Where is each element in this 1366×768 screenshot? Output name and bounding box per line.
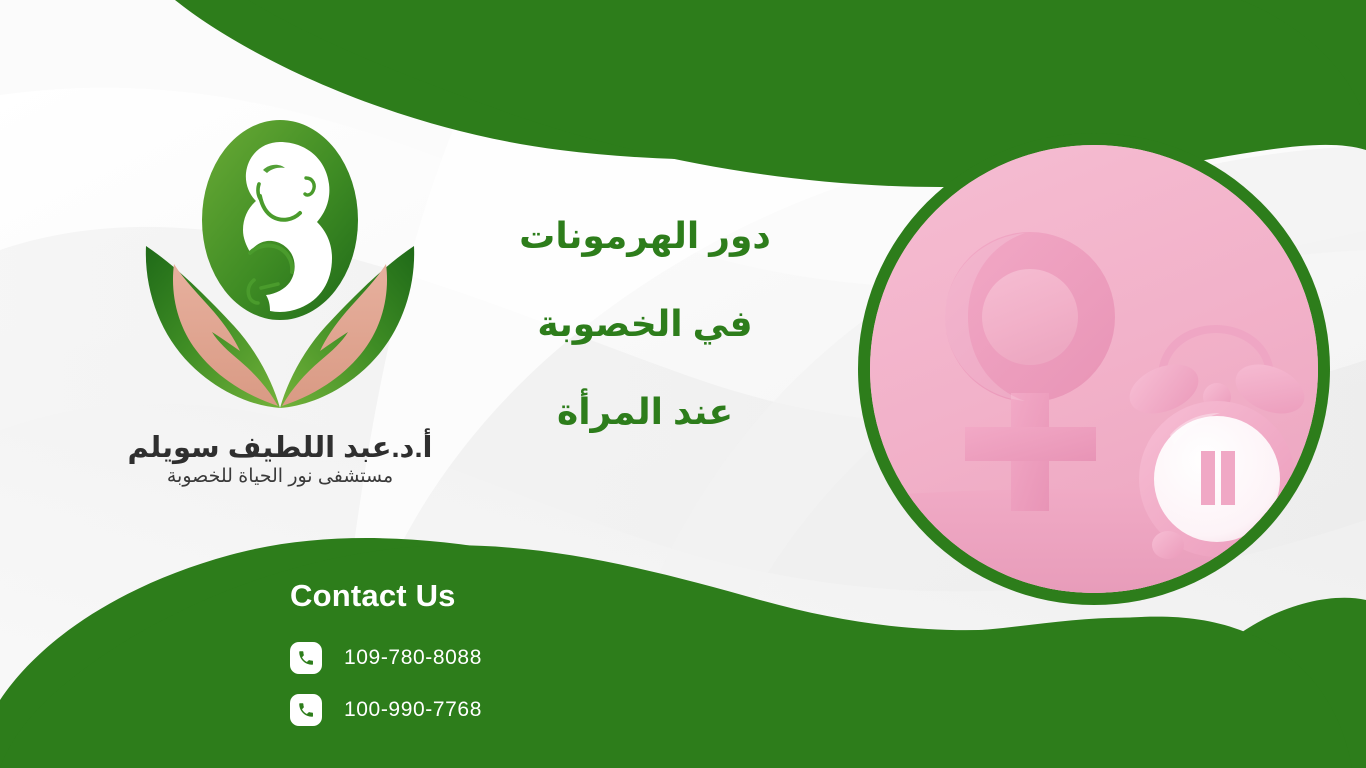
phone-icon: [290, 694, 322, 726]
contact-row[interactable]: 109-780-8088: [290, 642, 720, 674]
fetus-in-hands-leaf-logo-icon: [130, 112, 430, 430]
headline-line-2: في الخصوبة: [470, 306, 820, 342]
contact-row[interactable]: 100-990-7768: [290, 694, 720, 726]
contact-title: Contact Us: [290, 578, 720, 614]
photo-circle-ring: [858, 133, 1330, 605]
logo-doctor-name: أ.د.عبد اللطيف سويلم: [95, 432, 465, 464]
banner-canvas: أ.د.عبد اللطيف سويلم مستشفى نور الحياة ل…: [0, 0, 1366, 768]
phone-number[interactable]: 109-780-8088: [344, 646, 482, 670]
logo-clinic-name: مستشفى نور الحياة للخصوبة: [95, 466, 465, 488]
female-symbol-and-alarm-clock-photo: [870, 145, 1318, 593]
contact-block: Contact Us 109-780-8088 100-990-7768: [290, 578, 720, 746]
photo-circle-image: [870, 145, 1318, 593]
headline-line-1: دور الهرمونات: [470, 218, 820, 254]
headline-line-3: عند المرأة: [470, 394, 820, 430]
phone-number[interactable]: 100-990-7768: [344, 698, 482, 722]
logo-block: أ.د.عبد اللطيف سويلم مستشفى نور الحياة ل…: [95, 112, 465, 512]
phone-icon: [290, 642, 322, 674]
page-title: دور الهرمونات في الخصوبة عند المرأة: [470, 218, 820, 430]
